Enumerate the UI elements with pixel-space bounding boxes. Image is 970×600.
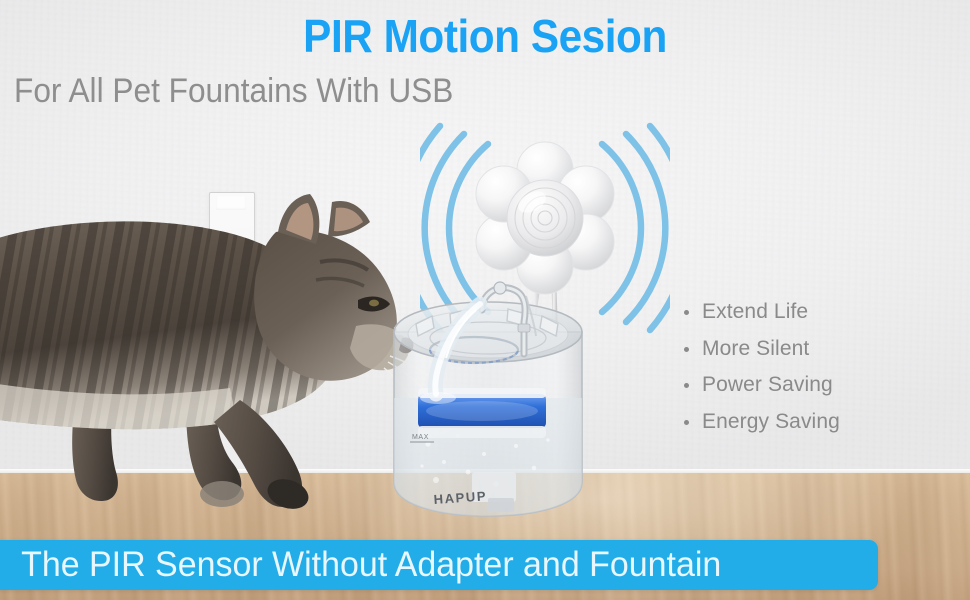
bullet-dot-icon — [684, 310, 689, 315]
max-fill-label: MAX — [412, 434, 429, 441]
page-subtitle: For All Pet Fountains With USB — [14, 72, 453, 111]
signal-waves-right — [602, 126, 670, 330]
bullet-dot-icon — [684, 383, 689, 388]
tabby-cat — [0, 188, 430, 518]
feature-label: More Silent — [702, 337, 809, 360]
fountain-illustration: MAX HAPUP — [376, 276, 606, 536]
feature-list: Extend Life More Silent Power Saving Ene… — [682, 300, 952, 446]
pet-water-fountain: MAX HAPUP — [376, 276, 606, 536]
feature-label: Extend Life — [702, 300, 808, 323]
list-item: More Silent — [682, 337, 952, 361]
product-poster: MAX HAPUP — [0, 0, 970, 600]
bullet-dot-icon — [684, 420, 689, 425]
banner-text: The PIR Sensor Without Adapter and Fount… — [0, 545, 721, 585]
page-title: PIR Motion Sesion — [39, 12, 931, 60]
feature-label: Energy Saving — [702, 410, 840, 433]
fountain-upper-tray — [394, 302, 582, 363]
list-item: Energy Saving — [682, 410, 952, 434]
list-item: Power Saving — [682, 373, 952, 397]
list-item: Extend Life — [682, 300, 952, 324]
cat-illustration — [0, 188, 430, 518]
feature-label: Power Saving — [702, 373, 833, 396]
bullet-dot-icon — [684, 347, 689, 352]
bottom-banner: The PIR Sensor Without Adapter and Fount… — [0, 540, 878, 590]
fresnel-lens-dome — [507, 180, 583, 256]
